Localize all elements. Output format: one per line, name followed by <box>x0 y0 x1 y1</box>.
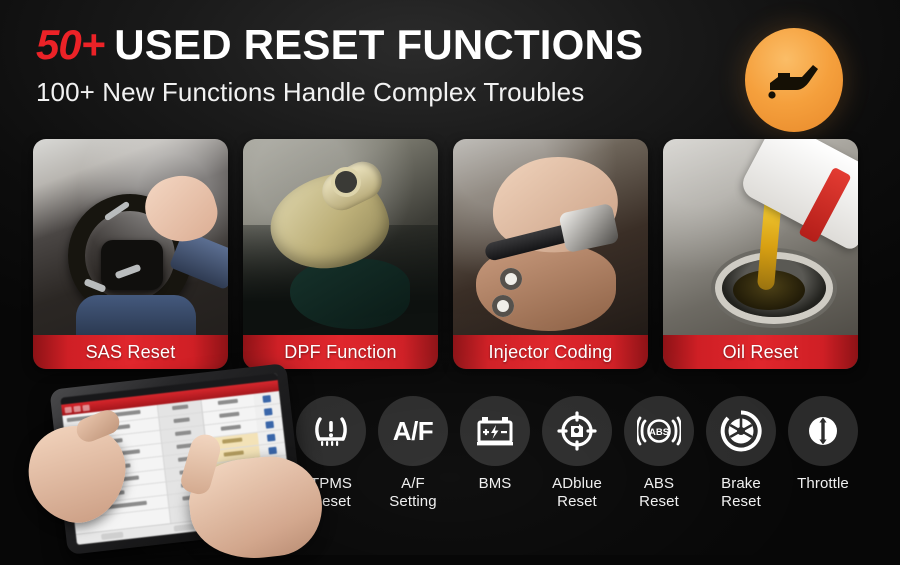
throttle-icon <box>803 411 843 451</box>
abs-icon: ABS <box>637 414 681 448</box>
function-item-throttle[interactable]: Throttle <box>788 396 858 536</box>
function-item-brake[interactable]: Brake Reset <box>706 396 776 536</box>
title-main: USED RESET FUNCTIONS <box>114 21 643 68</box>
function-icon-row: TPMS Reset A/F A/F Setting BMS <box>296 396 882 536</box>
function-label: BMS <box>479 475 512 493</box>
function-label: A/F Setting <box>389 475 436 510</box>
icon-bubble: ABS <box>624 396 694 466</box>
page-subtitle: 100+ New Functions Handle Complex Troubl… <box>36 77 643 108</box>
card-label: Injector Coding <box>453 335 648 369</box>
banner-root: 50+USED RESET FUNCTIONS 100+ New Functio… <box>0 0 900 555</box>
icon-bubble <box>706 396 776 466</box>
function-item-af[interactable]: A/F A/F Setting <box>378 396 448 536</box>
svg-text:ABS: ABS <box>649 427 669 438</box>
battery-icon <box>475 414 515 448</box>
function-item-adblue[interactable]: ADblue Reset <box>542 396 612 536</box>
feature-card[interactable]: Oil Reset <box>663 139 858 369</box>
oil-can-icon <box>766 57 822 103</box>
icon-bubble: A/F <box>378 396 448 466</box>
icon-bubble <box>788 396 858 466</box>
function-label: ADblue Reset <box>552 475 602 510</box>
diagnostic-tablet[interactable] <box>40 372 306 555</box>
tire-pressure-icon <box>311 412 351 450</box>
page-title: 50+USED RESET FUNCTIONS <box>36 22 643 67</box>
adblue-target-icon <box>557 411 597 451</box>
icon-bubble <box>542 396 612 466</box>
feature-card-row: SAS Reset DPF Function Injector Coding <box>33 139 867 369</box>
card-label: Oil Reset <box>663 335 858 369</box>
function-item-bms[interactable]: BMS <box>460 396 530 536</box>
function-label: Throttle <box>797 475 849 493</box>
function-item-abs[interactable]: ABS ABS Reset <box>624 396 694 536</box>
feature-card[interactable]: SAS Reset <box>33 139 228 369</box>
icon-bubble <box>460 396 530 466</box>
oil-can-badge <box>745 28 843 132</box>
icon-bubble <box>296 396 366 466</box>
function-label: Brake Reset <box>721 475 761 510</box>
header: 50+USED RESET FUNCTIONS 100+ New Functio… <box>36 22 643 108</box>
card-label: SAS Reset <box>33 335 228 369</box>
brake-wheel-icon <box>720 410 762 452</box>
function-label: ABS Reset <box>639 475 679 510</box>
feature-card[interactable]: Injector Coding <box>453 139 648 369</box>
af-text-icon: A/F <box>393 416 433 447</box>
title-highlight: 50+ <box>36 21 104 68</box>
feature-card[interactable]: DPF Function <box>243 139 438 369</box>
